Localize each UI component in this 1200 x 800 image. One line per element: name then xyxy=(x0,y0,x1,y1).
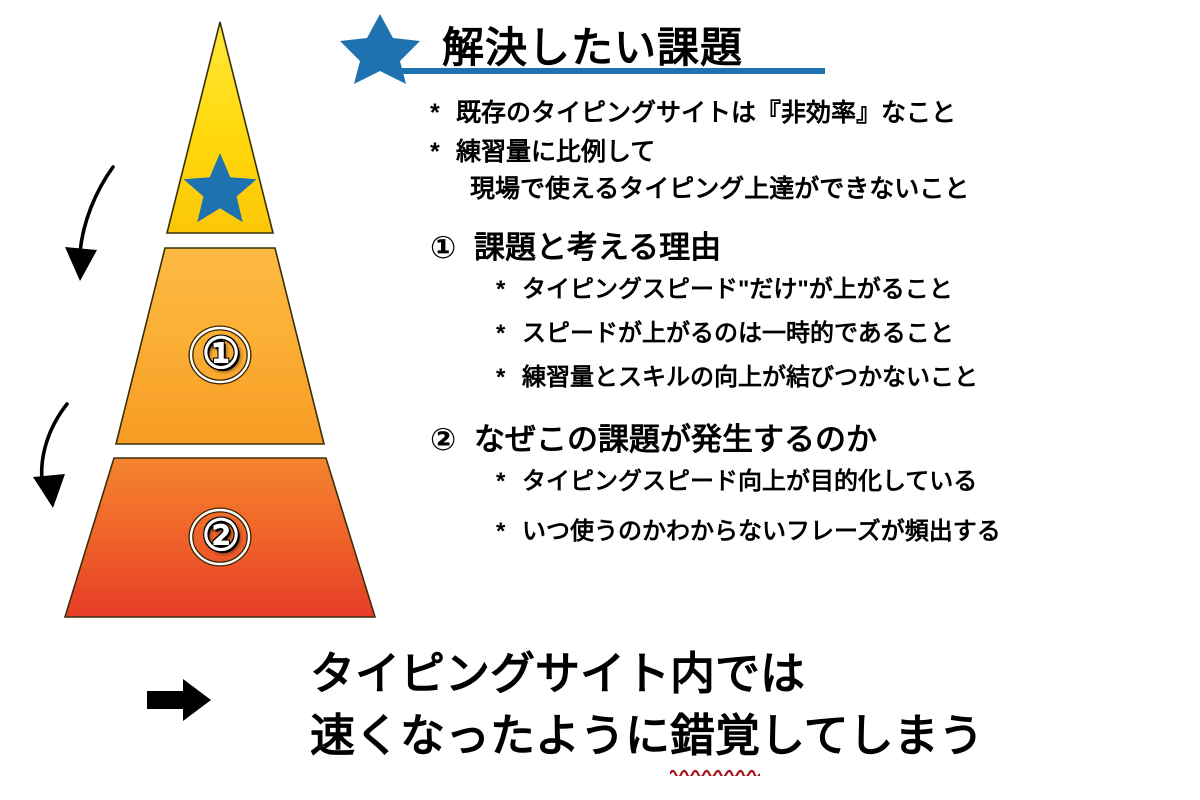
page-heading: 解決したい課題 xyxy=(330,8,870,88)
text-line: 既存のタイピングサイトは『非効率』なこと xyxy=(456,95,1170,132)
list-item: * タイピングスピード向上が目的化している xyxy=(430,468,1170,496)
conclusion-line2-before: 速くなったように xyxy=(310,710,670,761)
lead-point-text: 既存のタイピングサイトは『非効率』なこと xyxy=(456,95,1170,132)
list-item: * 練習量とスキルの向上が結びつかないこと xyxy=(430,364,1170,392)
lead-points-list: * 既存のタイピングサイトは『非効率』なこと * 練習量に比例して 現場で使える… xyxy=(430,95,1170,208)
asterisk-bullet-icon: * xyxy=(430,134,456,171)
bullet-text: スピードが上がるのは一時的であること xyxy=(522,320,954,348)
bullet-text: 練習量とスキルの向上が結びつかないこと xyxy=(522,364,978,392)
title-underline-rule xyxy=(400,68,825,74)
pyramid-diagram: ① ② xyxy=(0,0,400,640)
text-line: 練習量に比例して xyxy=(456,134,1170,171)
section-number: ① xyxy=(430,226,474,270)
asterisk-bullet-icon: * xyxy=(496,276,522,304)
section-heading: ② なぜこの課題が発生するのか xyxy=(430,418,1170,462)
conclusion-text: タイピングサイト内では 速くなったように錯覚 してしまう xyxy=(310,643,984,767)
section-heading: ① 課題と考える理由 xyxy=(430,226,1170,270)
curved-arrow-down-icon-1 xyxy=(65,167,113,281)
conclusion-line2-after: してしまう xyxy=(760,710,984,761)
asterisk-bullet-icon: * xyxy=(496,364,522,392)
asterisk-bullet-icon: * xyxy=(430,95,456,132)
list-item: * 既存のタイピングサイトは『非効率』なこと xyxy=(430,95,1170,132)
red-wavy-underline-icon xyxy=(670,767,760,776)
conclusion-line2-marked: 錯覚 xyxy=(670,710,760,761)
content-column: * 既存のタイピングサイトは『非効率』なこと * 練習量に比例して 現場で使える… xyxy=(430,95,1170,568)
section-title-text: 課題と考える理由 xyxy=(474,226,721,270)
misspelled-word: 錯覚 xyxy=(670,705,760,767)
section-reason: ① 課題と考える理由 * タイピングスピード"だけ"が上がること * スピードが… xyxy=(430,226,1170,392)
bullet-text: タイピングスピード"だけ"が上がること xyxy=(522,276,953,304)
section-bullet-list: * タイピングスピード向上が目的化している * いつ使うのかわからないフレーズが… xyxy=(430,468,1170,546)
lead-point-text: 練習量に比例して 現場で使えるタイピング上達ができないこと xyxy=(456,134,1170,208)
text-line-2: 速くなったように錯覚 してしまう xyxy=(310,705,984,767)
list-item: * タイピングスピード"だけ"が上がること xyxy=(430,276,1170,304)
pyramid-tier-bottom-label: ② xyxy=(186,512,256,562)
text-line: タイピングサイト内では xyxy=(310,643,984,705)
list-item: * スピードが上がるのは一時的であること xyxy=(430,320,1170,348)
right-arrow-icon xyxy=(147,677,213,723)
asterisk-bullet-icon: * xyxy=(496,320,522,348)
asterisk-bullet-icon: * xyxy=(496,468,522,496)
section-cause: ② なぜこの課題が発生するのか * タイピングスピード向上が目的化している * … xyxy=(430,418,1170,546)
list-item: * 練習量に比例して 現場で使えるタイピング上達ができないこと xyxy=(430,134,1170,208)
bullet-text: タイピングスピード向上が目的化している xyxy=(522,468,977,496)
bullet-text: いつ使うのかわからないフレーズが頻出する xyxy=(522,518,1001,546)
list-item: * いつ使うのかわからないフレーズが頻出する xyxy=(430,518,1170,546)
section-number: ② xyxy=(430,418,474,462)
section-title-text: なぜこの課題が発生するのか xyxy=(474,418,877,462)
text-line: 現場で使えるタイピング上達ができないこと xyxy=(456,171,1170,208)
conclusion-block: タイピングサイト内では 速くなったように錯覚 してしまう xyxy=(140,645,1190,795)
asterisk-bullet-icon: * xyxy=(496,518,522,546)
pyramid-tier-middle-label: ① xyxy=(186,330,256,380)
section-bullet-list: * タイピングスピード"だけ"が上がること * スピードが上がるのは一時的である… xyxy=(430,276,1170,392)
slide-canvas: ① ② 解決したい課題 * 既存のタイピングサイトは『非効率』なこと * 練習量… xyxy=(0,0,1200,800)
curved-arrow-down-icon-2 xyxy=(33,404,67,508)
page-title: 解決したい課題 xyxy=(442,14,743,75)
